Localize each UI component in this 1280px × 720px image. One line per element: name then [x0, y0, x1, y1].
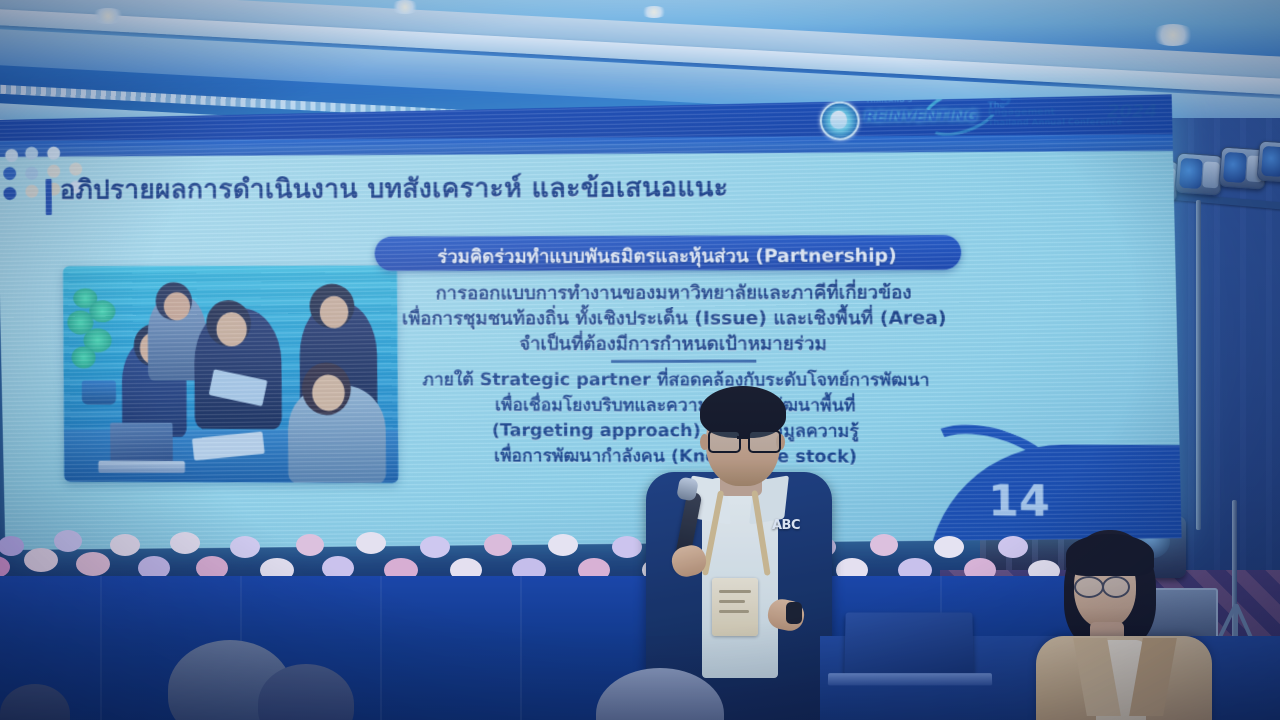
name-badge [712, 578, 758, 636]
title-accent-bar [46, 179, 52, 215]
ceiling-downlight [1150, 24, 1196, 46]
photo-person-face [320, 296, 349, 328]
seated-panelist [1040, 530, 1240, 720]
brand-reinventing: REINVENTING [864, 107, 978, 126]
eyeglasses-icon [748, 430, 781, 453]
slide-title: อภิปรายผลการดำเนินงาน บทสังเคราะห์ และข้… [60, 166, 729, 210]
eyeglasses-icon [1074, 576, 1104, 598]
slide-banner-partnership: ร่วมคิดร่วมทำแบบพันธมิตรและหุ้นส่วน (Par… [375, 235, 962, 271]
panelist-hair-front [1066, 534, 1154, 576]
brand-engagement: Engagement [988, 108, 1055, 118]
par-can-light [1257, 140, 1280, 183]
conference-photo-scene: อภิปรายผลการดำเนินงาน บทสังเคราะห์ และข้… [0, 0, 1280, 720]
presentation-clicker [786, 602, 802, 624]
ceiling-downlight [390, 0, 420, 14]
light-stand-pole [1196, 200, 1201, 530]
photo-person-face [216, 312, 247, 346]
brand-year: 2024 [1107, 101, 1157, 122]
jacket-logo: ABC [772, 518, 800, 533]
paragraph-1-line: การออกแบบการทำงานของมหาวิทยาลัยและภาคีที… [358, 280, 991, 306]
brand-conference-line: Thailand Annual Conference [988, 117, 1122, 127]
slide-paragraph-1: การออกแบบการทำงานของมหาวิทยาลัยและภาคีที… [358, 280, 991, 357]
presentation-slide: อภิปรายผลการดำเนินงาน บทสังเคราะห์ และข้… [0, 94, 1182, 550]
eyeglasses-icon [1102, 576, 1130, 598]
led-presentation-screen: อภิปรายผลการดำเนินงาน บทสังเคราะห์ และข้… [0, 94, 1182, 550]
conference-branding-lockup: THAILAND'S REINVENTING The 9 Engagement … [820, 94, 1158, 146]
paragraph-1-line: จำเป็นที่ต้องมีการกำหนดเป้าหมายร่วม [359, 331, 992, 357]
university-seal-icon [820, 101, 860, 140]
photo-person-face [312, 375, 345, 411]
photo-laptop-base [98, 461, 185, 473]
laptop [844, 612, 973, 674]
ceiling-downlight [90, 8, 126, 24]
photo-plant [67, 284, 124, 404]
paragraph-divider [611, 360, 756, 363]
eyeglasses-bridge [737, 436, 749, 439]
slide-photo-team-meeting [63, 266, 398, 483]
par-can-light [1175, 152, 1224, 195]
paragraph-1-line: เพื่อการชุมชนท้องถิ่น ทั้งเชิงประเด็น (I… [359, 306, 992, 332]
ceiling-downlight [640, 6, 668, 18]
eyeglasses-icon [708, 430, 741, 453]
photo-laptop [110, 423, 173, 465]
slide-banner-text: ร่วมคิดร่วมทำแบบพันธมิตรและหุ้นส่วน (Par… [375, 240, 962, 271]
photo-person-face [164, 292, 190, 320]
